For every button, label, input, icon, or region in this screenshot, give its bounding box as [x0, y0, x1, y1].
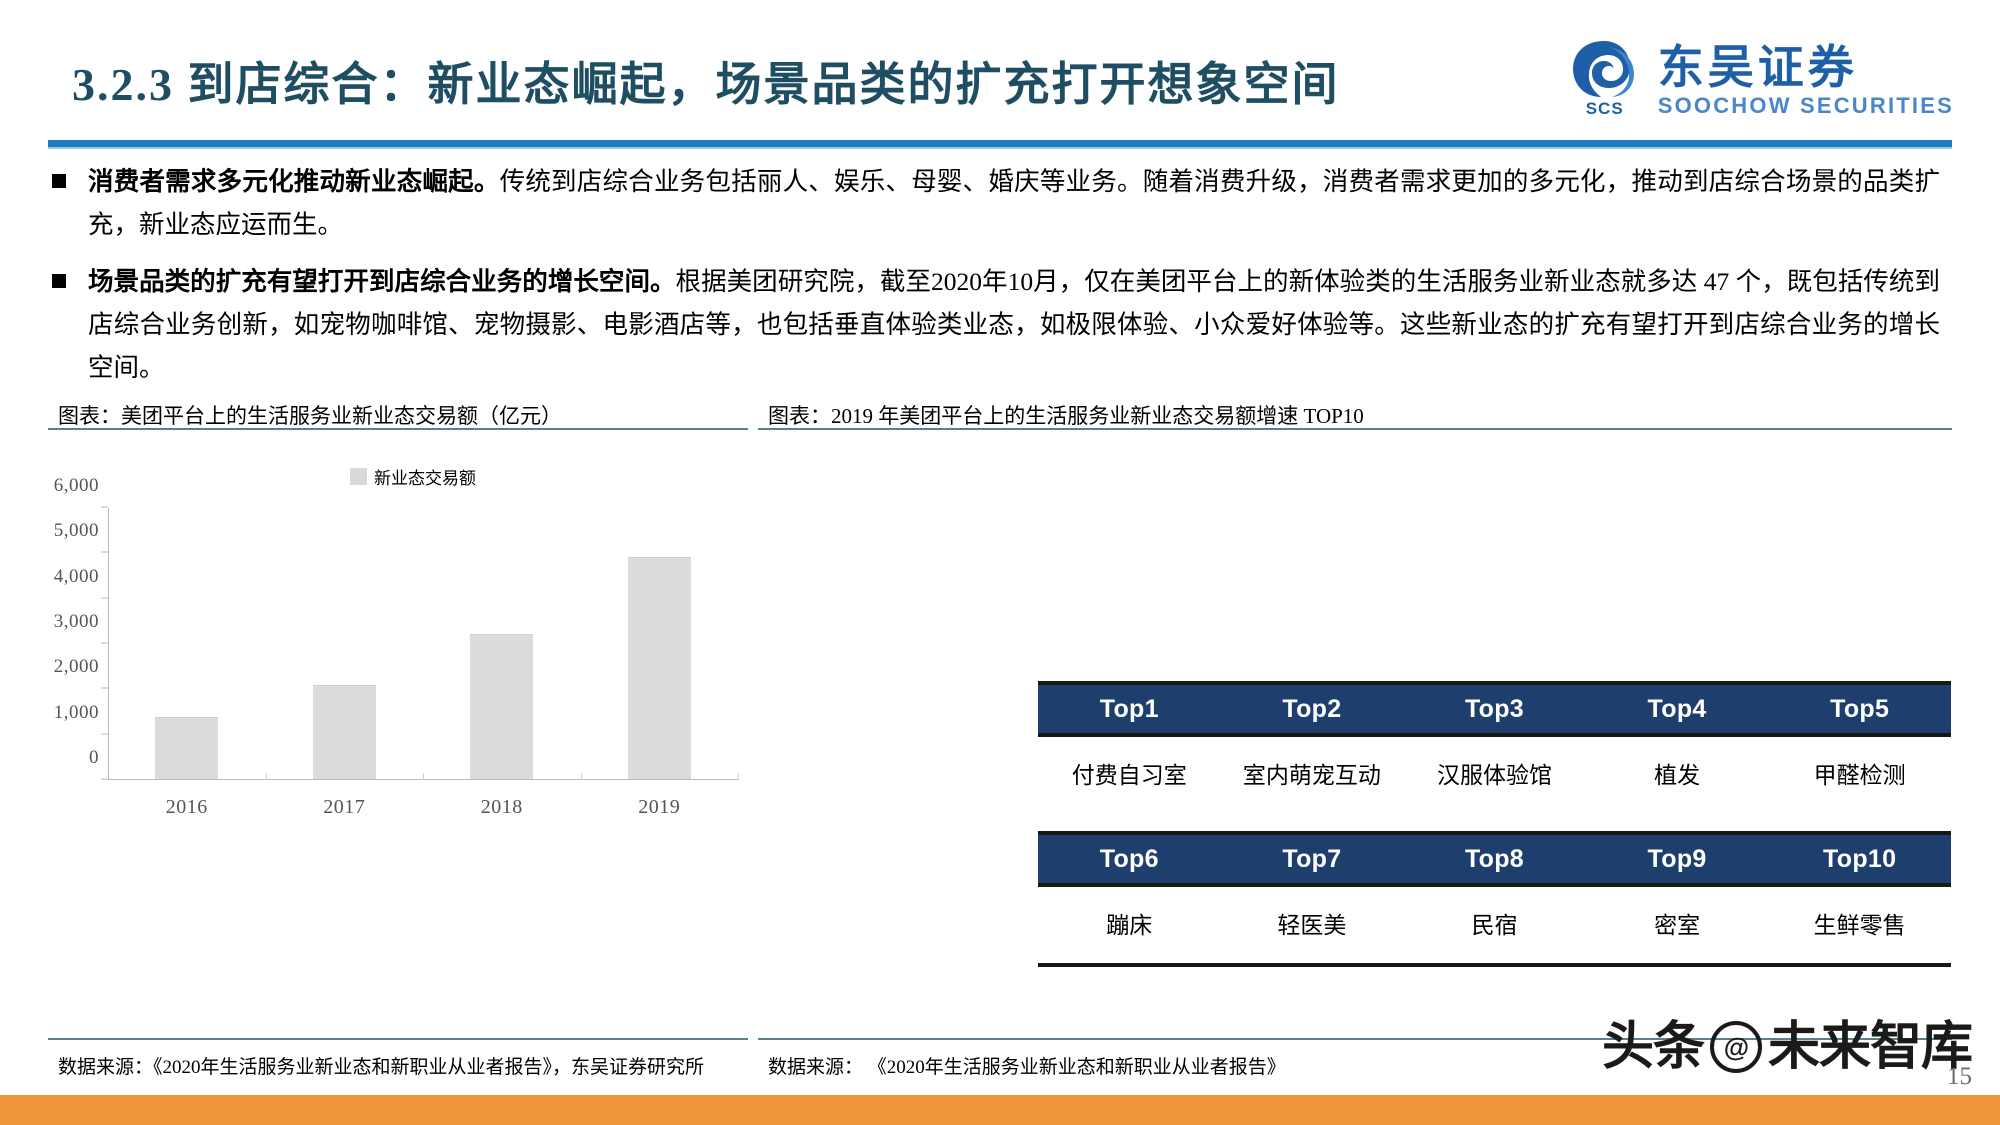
table-header-cell: Top4 [1586, 695, 1769, 724]
watermark-at-icon: @ [1710, 1021, 1762, 1073]
table-cell: 生鲜零售 [1768, 906, 1951, 940]
x-axis-tick-label: 2019 [638, 796, 680, 819]
chart-bar [628, 557, 691, 779]
bullet-item: 消费者需求多元化推动新业态崛起。传统到店综合业务包括丽人、娱乐、母婴、婚庆等业务… [52, 160, 1952, 246]
legend-label: 新业态交易额 [374, 464, 476, 489]
table-bottom-rule [1038, 963, 1951, 967]
x-axis-tick-label: 2017 [323, 796, 365, 819]
brand-name-cn: 东吴证券 [1658, 42, 1954, 92]
y-axis-line [108, 508, 109, 780]
y-axis-tick-label: 5,000 [54, 520, 99, 542]
table-header-row-1: Top1 Top2 Top3 Top4 Top5 [1038, 681, 1951, 737]
right-figure-caption: 图表：2019 年美团平台上的生活服务业新业态交易额增速 TOP10 [768, 400, 1364, 430]
chart-plot-area: 01,0002,0003,0004,0005,0006,000 20162017… [108, 508, 738, 780]
header-accent-rule-secondary [48, 147, 1952, 149]
y-axis-tick-label: 0 [89, 747, 99, 769]
x-axis-tick-mark [266, 773, 267, 780]
table-header-cell: Top5 [1768, 695, 1951, 724]
y-axis-tick-mark [101, 688, 108, 689]
table-header-cell: Top6 [1038, 845, 1221, 874]
table-cell: 汉服体验馆 [1403, 756, 1586, 790]
x-axis-tick-mark [738, 773, 739, 780]
watermark-right-text: 未来智库 [1768, 1018, 1972, 1076]
table-cell: 密室 [1586, 906, 1769, 940]
watermark-left-text: 头条 [1602, 1018, 1704, 1076]
bullet-square-icon [52, 174, 66, 188]
y-axis-tick-label: 4,000 [54, 566, 99, 588]
watermark: 头条 @ 未来智库 [1602, 1018, 1972, 1076]
top10-table: Top1 Top2 Top3 Top4 Top5 付费自习室 室内萌宠互动 汉服… [1038, 681, 1951, 967]
brand-wordmark: 东吴证券 SOOCHOW SECURITIES [1658, 42, 1954, 118]
y-axis-tick-label: 6,000 [54, 475, 99, 497]
table-header-cell: Top2 [1221, 695, 1404, 724]
table-row: 蹦床 轻医美 民宿 密室 生鲜零售 [1038, 887, 1951, 959]
legend-swatch-icon [350, 468, 367, 485]
table-header-cell: Top1 [1038, 695, 1221, 724]
x-axis-tick-mark [581, 773, 582, 780]
left-source-rule [48, 1038, 748, 1040]
footer-accent-bar [0, 1095, 2000, 1125]
table-cell: 植发 [1586, 756, 1769, 790]
y-axis-tick-mark [101, 552, 108, 553]
table-header-cell: Top9 [1586, 845, 1769, 874]
chart-bar [470, 634, 533, 779]
bar-chart: 新业态交易额 01,0002,0003,0004,0005,0006,000 2… [20, 440, 780, 1010]
table-cell: 轻医美 [1221, 906, 1404, 940]
table-spacer [1038, 809, 1951, 831]
table-header-cell: Top10 [1768, 845, 1951, 874]
soochow-logo-icon: SCS [1566, 38, 1644, 122]
left-caption-rule [48, 428, 748, 430]
y-axis-tick-mark [101, 643, 108, 644]
x-axis-tick-label: 2018 [481, 796, 523, 819]
table-header-cell: Top7 [1221, 845, 1404, 874]
table-cell: 民宿 [1403, 906, 1586, 940]
table-header-cell: Top3 [1403, 695, 1586, 724]
y-axis-tick-label: 3,000 [54, 611, 99, 633]
right-caption-rule [758, 428, 1952, 430]
header-accent-rule [48, 140, 1952, 147]
left-source-note: 数据来源：《2020年生活服务业新业态和新职业从业者报告》，东吴证券研究所 [58, 1052, 704, 1079]
table-header-row-2: Top6 Top7 Top8 Top9 Top10 [1038, 831, 1951, 887]
page-title: 3.2.3 到店综合：新业态崛起，场景品类的扩充打开想象空间 [72, 48, 1340, 114]
chart-bar [313, 685, 376, 779]
y-axis-tick-mark [101, 597, 108, 598]
bullet-paragraph: 场景品类的扩充有望打开到店综合业务的增长空间。根据美团研究院，截至2020年10… [88, 260, 1940, 389]
x-axis-tick-label: 2016 [166, 796, 208, 819]
right-source-note: 数据来源： 《2020年生活服务业新业态和新职业从业者报告》 [768, 1052, 1286, 1079]
left-figure-caption: 图表：美团平台上的生活服务业新业态交易额（亿元） [58, 400, 562, 430]
soochow-swirl-icon [1570, 38, 1640, 100]
table-header-cell: Top8 [1403, 845, 1586, 874]
brand-name-en: SOOCHOW SECURITIES [1658, 94, 1954, 118]
y-axis-tick-label: 1,000 [54, 702, 99, 724]
body-copy: 消费者需求多元化推动新业态崛起。传统到店综合业务包括丽人、娱乐、母婴、婚庆等业务… [52, 160, 1952, 403]
chart-bar [155, 717, 218, 779]
y-axis-tick-mark [101, 507, 108, 508]
chart-legend: 新业态交易额 [350, 464, 476, 489]
bullet-lead: 消费者需求多元化推动新业态崛起。 [88, 167, 500, 196]
table-cell: 甲醛检测 [1768, 756, 1951, 790]
table-cell: 付费自习室 [1038, 756, 1221, 790]
bullet-square-icon [52, 274, 66, 288]
y-axis-tick-mark [101, 733, 108, 734]
bullet-paragraph: 消费者需求多元化推动新业态崛起。传统到店综合业务包括丽人、娱乐、母婴、婚庆等业务… [88, 160, 1940, 246]
table-row: 付费自习室 室内萌宠互动 汉服体验馆 植发 甲醛检测 [1038, 737, 1951, 809]
table-cell: 蹦床 [1038, 906, 1221, 940]
brand-logo: SCS 东吴证券 SOOCHOW SECURITIES [1566, 38, 1954, 122]
slide-header: 3.2.3 到店综合：新业态崛起，场景品类的扩充打开想象空间 SCS 东吴证券 … [0, 0, 2000, 148]
y-axis-tick-label: 2,000 [54, 656, 99, 678]
page-number: 15 [1947, 1063, 1972, 1091]
brand-abbreviation: SCS [1586, 100, 1624, 118]
y-axis-tick-mark [101, 779, 108, 780]
x-axis-tick-mark [423, 773, 424, 780]
bullet-lead: 场景品类的扩充有望打开到店综合业务的增长空间。 [88, 267, 676, 296]
bullet-item: 场景品类的扩充有望打开到店综合业务的增长空间。根据美团研究院，截至2020年10… [52, 260, 1952, 389]
table-cell: 室内萌宠互动 [1221, 756, 1404, 790]
